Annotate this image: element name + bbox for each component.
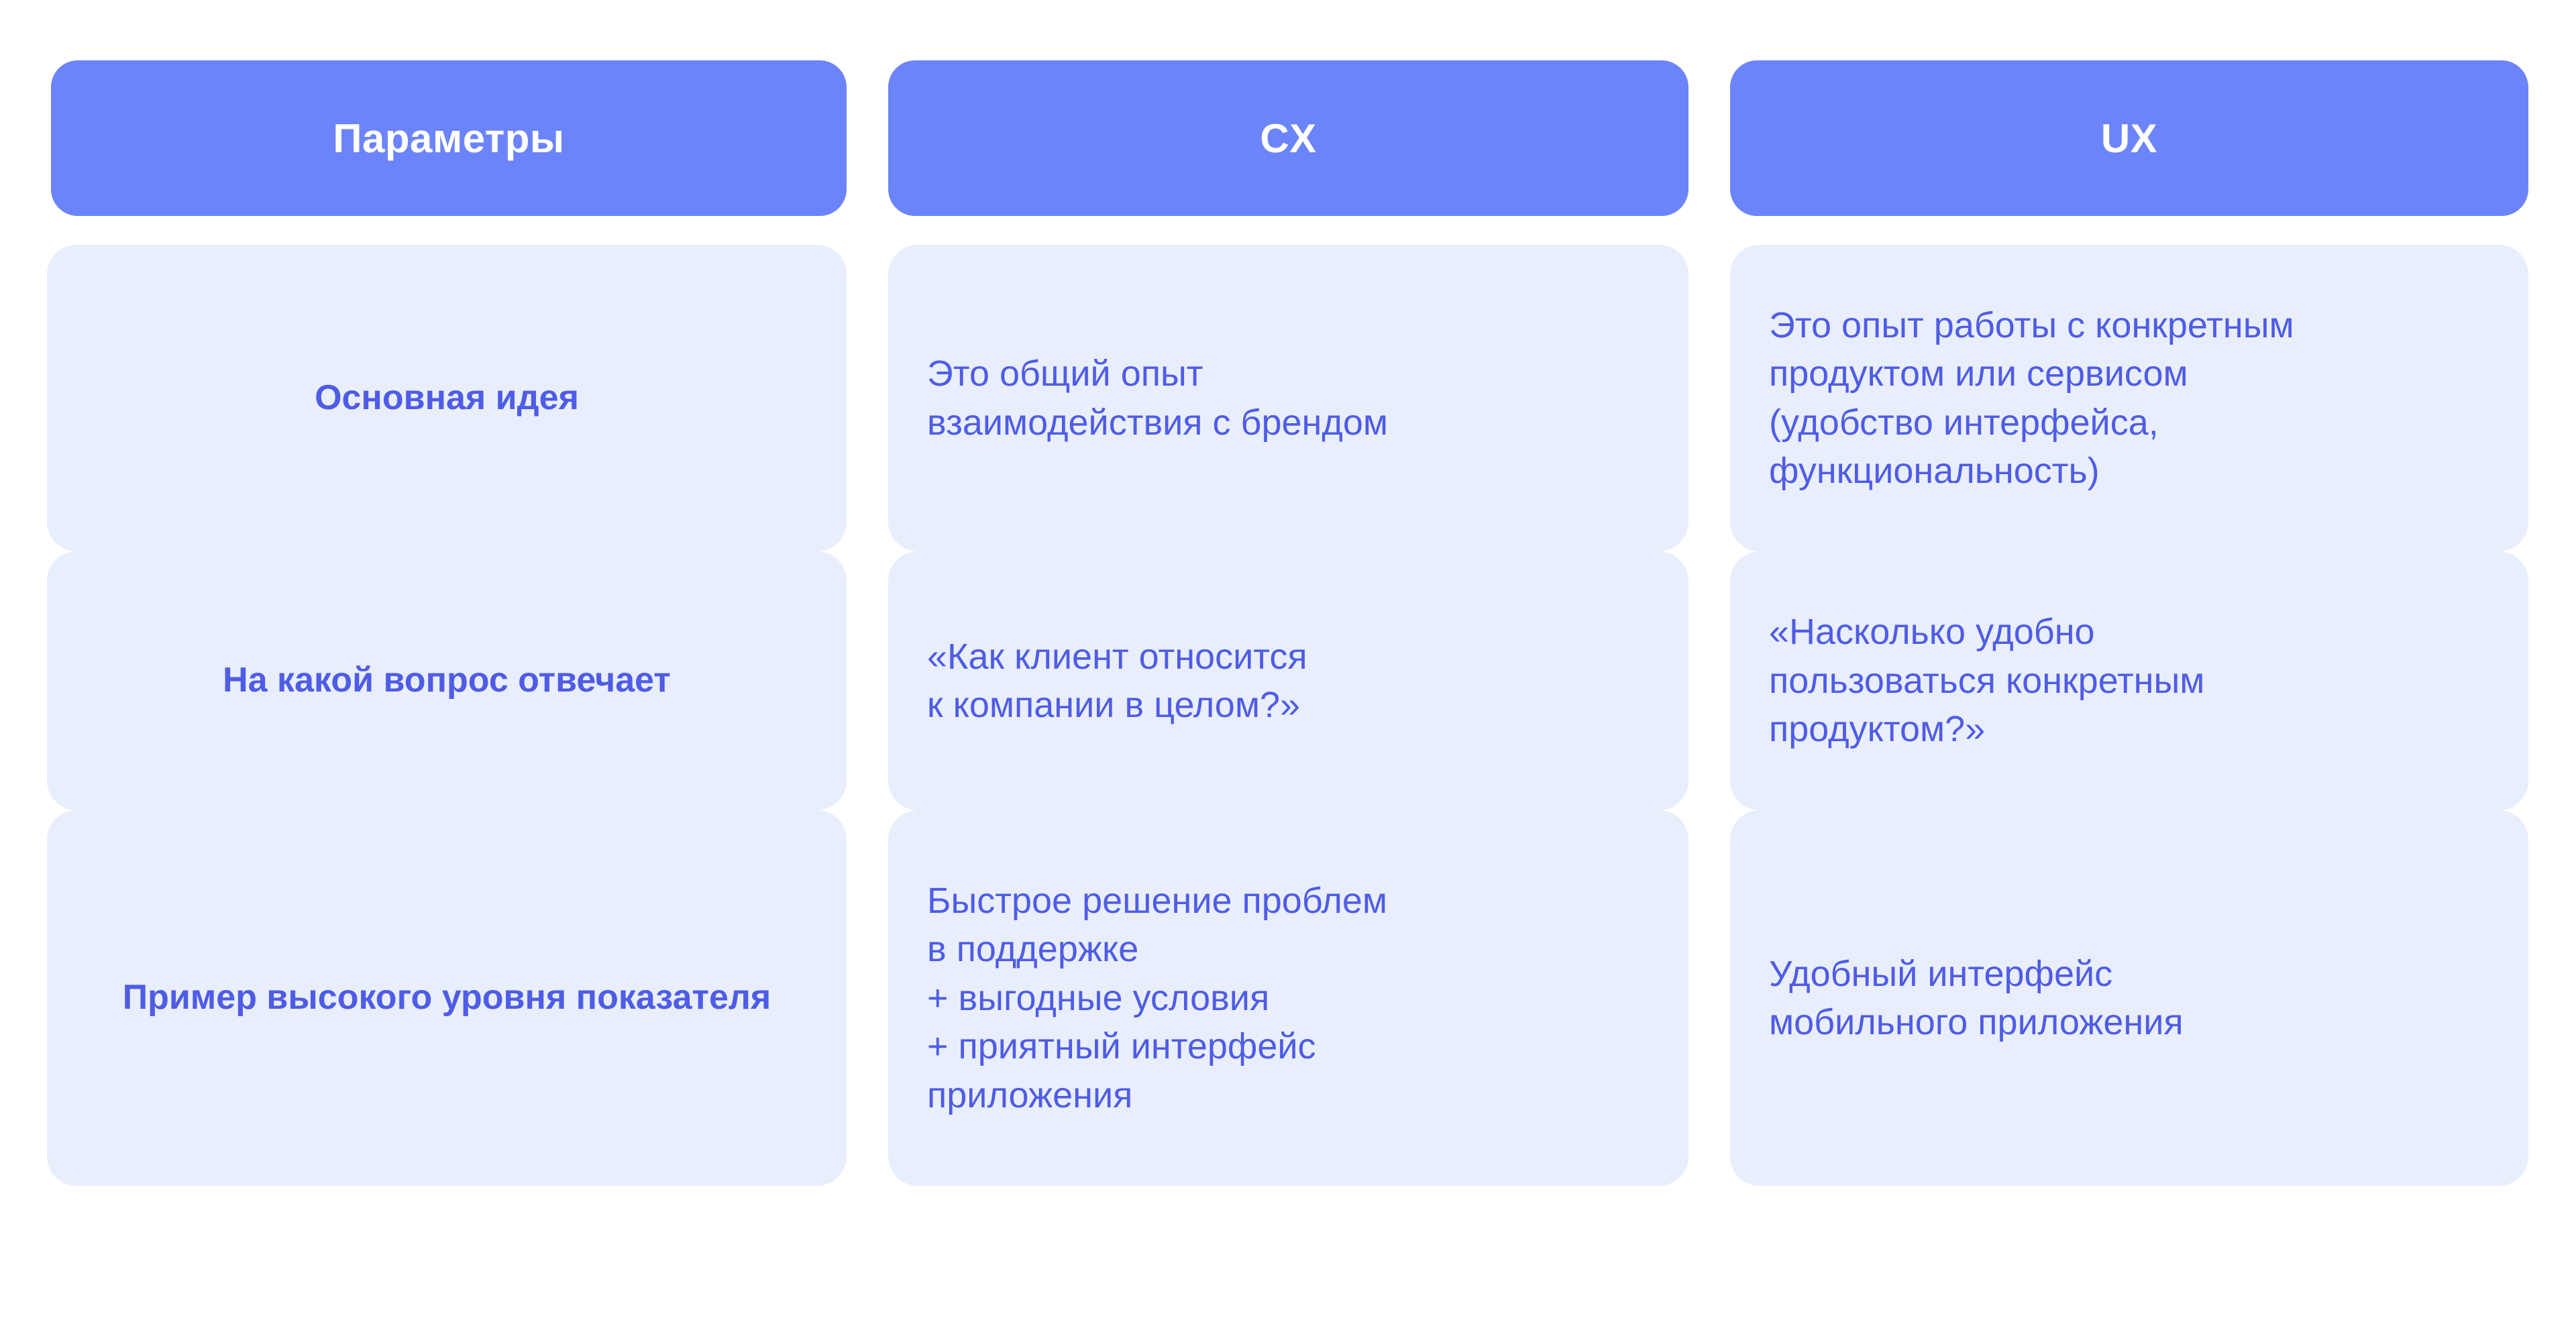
table-cell-ux-main-idea: Это опыт работы с конкретным продуктом и… — [1730, 245, 2528, 551]
text-line: взаимодействия с брендом — [927, 398, 1388, 447]
text-line: функциональность) — [1769, 447, 2100, 495]
table-row-parameter-label: На какой вопрос отвечает — [47, 551, 847, 810]
table-header-ux: UX — [1730, 60, 2528, 216]
table-cell-cx-example: Быстрое решение проблем в поддержке + вы… — [888, 810, 1688, 1186]
text-line: Это общий опыт — [927, 349, 1203, 398]
table-cell-ux-example: Удобный интерфейс мобильного приложения — [1730, 810, 2528, 1186]
text-line: Удобный интерфейс — [1769, 950, 2112, 998]
table-row-parameter-label: Пример высокого уровня показателя — [47, 810, 847, 1186]
table-header-cx: CX — [888, 60, 1688, 216]
text-line: «Насколько удобно — [1769, 608, 2095, 656]
table-cell-ux-question: «Насколько удобно пользоваться конкретны… — [1730, 551, 2528, 810]
table-header-parameters: Параметры — [51, 60, 847, 216]
text-line: продуктом или сервисом — [1769, 349, 2188, 398]
text-line: в поддержке — [927, 925, 1138, 973]
text-line: (удобство интерфейса, — [1769, 398, 2159, 447]
text-line: «Как клиент относится — [927, 632, 1307, 681]
text-line: к компании в целом?» — [927, 681, 1300, 729]
cx-ux-comparison-table: Параметры CX UX Основная идея Это общий … — [0, 0, 2576, 1324]
text-line: мобильного приложения — [1769, 998, 2184, 1046]
text-line: продуктом?» — [1769, 705, 1985, 753]
text-line: Это опыт работы с конкретным — [1769, 301, 2294, 349]
text-line: приложения — [927, 1071, 1132, 1119]
text-line: + приятный интерфейс — [927, 1022, 1316, 1070]
table-row-parameter-label: Основная идея — [47, 245, 847, 551]
table-cell-cx-question: «Как клиент относится к компании в целом… — [888, 551, 1688, 810]
text-line: + выгодные условия — [927, 974, 1269, 1022]
text-line: Быстрое решение проблем — [927, 877, 1387, 925]
table-cell-cx-main-idea: Это общий опыт взаимодействия с брендом — [888, 245, 1688, 551]
text-line: пользоваться конкретным — [1769, 657, 2204, 705]
